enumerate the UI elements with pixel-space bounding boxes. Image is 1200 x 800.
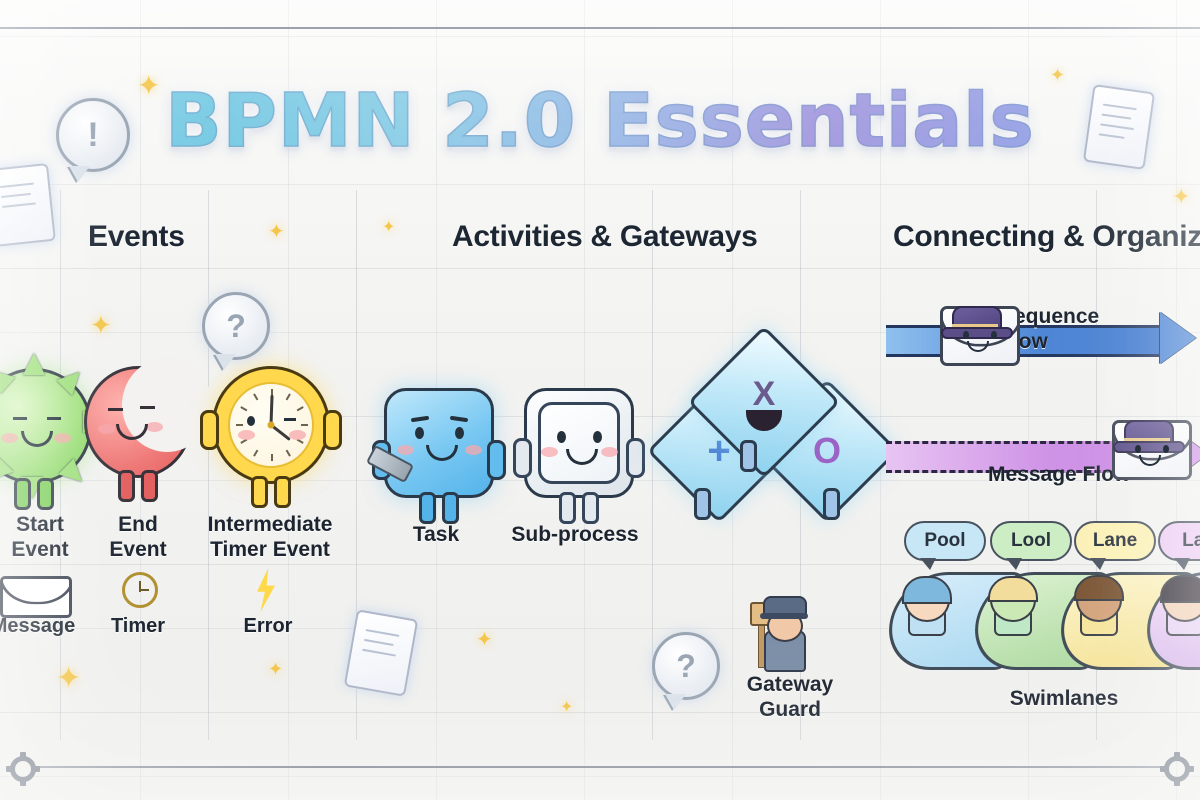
question-glyph: ? <box>676 648 696 685</box>
sparkle-icon: ✦ <box>90 312 112 338</box>
gear-icon-left[interactable] <box>10 756 36 782</box>
bottom-border-line <box>36 766 1164 768</box>
sparkle-icon: ✦ <box>1050 66 1065 84</box>
sparkle-icon: ✦ <box>268 660 283 678</box>
top-border-line <box>0 27 1200 29</box>
scroll-icon <box>1083 84 1155 170</box>
illustration-canvas: BPMN 2.0 Essentials Events Activities & … <box>0 0 1200 800</box>
moon-icon <box>84 366 192 478</box>
sequence-flow-arrowhead <box>1160 312 1196 364</box>
grid-divider <box>0 268 1200 269</box>
sparkle-icon: ✦ <box>1172 186 1190 208</box>
scroll-icon-2 <box>0 163 56 247</box>
end-event-character <box>84 366 192 478</box>
swimlane-bubble-lan[interactable]: Lan <box>1158 521 1200 561</box>
intermediate-timer-event-label: Intermediate Timer Event <box>180 512 360 562</box>
task-label: Task <box>376 522 496 547</box>
clock-small-icon <box>122 572 158 608</box>
swimlane-person <box>1162 578 1200 636</box>
police-cap-icon <box>763 596 807 616</box>
sparkle-icon: ✦ <box>476 630 493 650</box>
swimlane-person <box>990 578 1036 636</box>
section-heading-activities: Activities & Gateways <box>452 220 758 254</box>
start-event-character <box>0 368 92 484</box>
intermediate-timer-event-character <box>212 366 330 484</box>
question-bubble-icon: ? <box>202 292 270 360</box>
grid-divider <box>208 190 209 740</box>
swimlane-bubble-text: Lan <box>1182 530 1200 552</box>
sun-icon <box>0 368 92 484</box>
timer-trigger-label: Timer <box>78 614 198 639</box>
swimlane-bubble-lool[interactable]: Lool <box>990 521 1072 561</box>
question-glyph: ? <box>226 308 246 345</box>
question-bubble-icon-2: ? <box>652 632 720 700</box>
sparkle-icon: ✦ <box>382 220 395 236</box>
clock-icon <box>212 366 330 484</box>
exclusive-gateway-character: X <box>710 348 818 456</box>
task-square-icon <box>384 388 494 498</box>
swimlane-bubble-text: Pool <box>924 530 965 552</box>
sparkle-icon: ✦ <box>560 700 573 716</box>
gateway-guard-label: Gateway Guard <box>728 672 852 722</box>
gear-icon-right[interactable] <box>1164 756 1190 782</box>
sequence-flow-label: Sequence Flow <box>1000 304 1150 354</box>
error-trigger-label: Error <box>208 614 328 639</box>
swimlanes-label: Swimlanes <box>984 686 1144 711</box>
swimlane-bubble-pool[interactable]: Pool <box>904 521 986 561</box>
subprocess-character <box>524 388 634 498</box>
sparkle-icon: ✦ <box>56 664 81 694</box>
scroll-icon-3 <box>344 609 419 697</box>
section-heading-events: Events <box>88 220 185 254</box>
subprocess-square-icon <box>524 388 634 498</box>
section-heading-connecting: Connecting & Organizing <box>893 220 1200 254</box>
exclamation-glyph: ! <box>87 116 98 155</box>
exclusive-gateway-symbol: X <box>710 332 818 456</box>
sparkle-icon: ✦ <box>137 72 160 100</box>
swimlane-bubble-text: Lool <box>1011 530 1051 552</box>
exclamation-bubble-icon: ! <box>56 98 130 172</box>
sparkle-icon: ✦ <box>268 222 285 242</box>
swimlane-person <box>1076 578 1122 636</box>
swimlane-bubble-text: Lane <box>1093 530 1137 552</box>
task-character <box>384 388 494 498</box>
lightning-bolt-icon <box>252 568 280 612</box>
swimlane-bubble-lane[interactable]: Lane <box>1074 521 1156 561</box>
subprocess-label: Sub-process <box>500 522 650 547</box>
gateway-guard-character <box>756 596 814 672</box>
envelope-icon <box>0 576 72 618</box>
page-title: BPMN 2.0 Essentials <box>0 78 1200 164</box>
grid-divider <box>0 712 1200 713</box>
swimlane-person <box>904 578 950 636</box>
